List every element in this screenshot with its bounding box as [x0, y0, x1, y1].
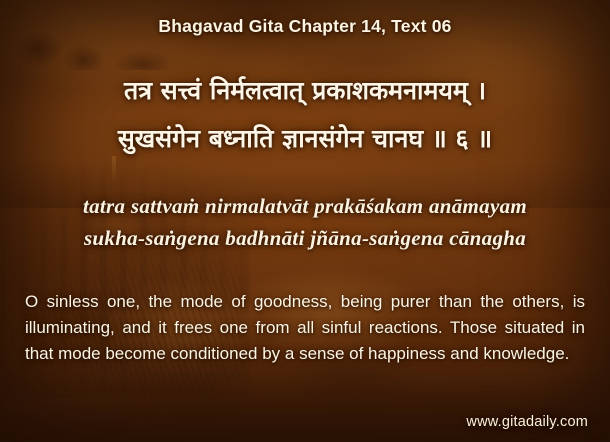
slide-content: Bhagavad Gita Chapter 14, Text 06 तत्र स…	[0, 0, 610, 442]
devanagari-verse-line-1: तत्र सत्त्वं निर्मलत्वात् प्रकाशकमनामयम्…	[0, 78, 610, 103]
devanagari-verse-line-2: सुखसंगेन बध्नाति ज्ञानसंगेन चानघ ॥ ६ ॥	[0, 126, 610, 151]
gita-verse-slide: Bhagavad Gita Chapter 14, Text 06 तत्र स…	[0, 0, 610, 442]
page-title: Bhagavad Gita Chapter 14, Text 06	[0, 16, 610, 37]
translation-text: O sinless one, the mode of goodness, bei…	[25, 289, 585, 367]
transliteration-line-1: tatra sattvaṁ nirmalatvāt prakāśakam anā…	[0, 196, 610, 217]
website-url[interactable]: www.gitadaily.com	[466, 414, 588, 430]
transliteration-line-2: sukha-saṅgena badhnāti jñāna-saṅgena cān…	[0, 228, 610, 249]
